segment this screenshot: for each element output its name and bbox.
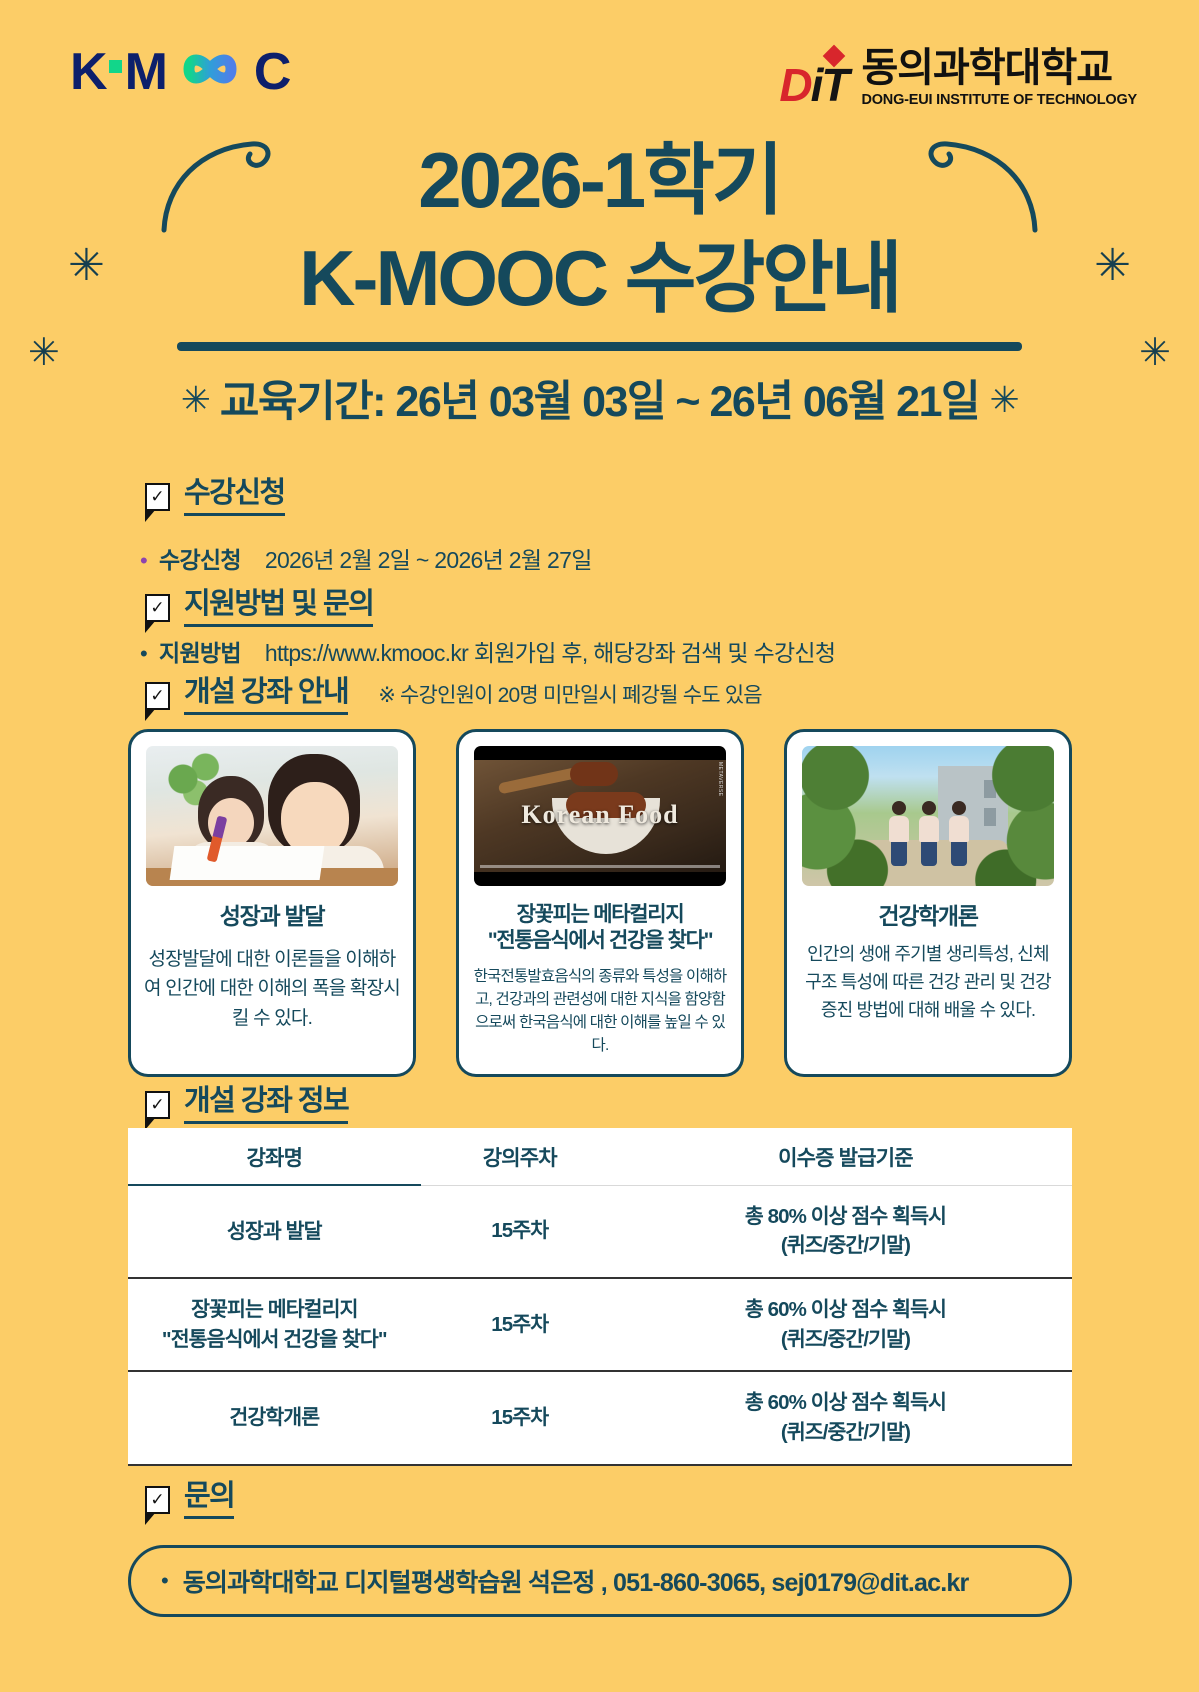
korean-food-caption: Korean Food bbox=[474, 800, 726, 830]
check-icon-courses-intro: ✓ bbox=[145, 682, 170, 710]
table-header-weeks: 강의주차 bbox=[421, 1128, 619, 1185]
table-cell-name-line2: "전통음식에서 건강을 찾다" bbox=[134, 1325, 415, 1355]
section-title-contact: 문의 bbox=[184, 1480, 234, 1519]
table-cell-name: 건강학개론 bbox=[128, 1371, 421, 1464]
table-cell-weeks: 15주차 bbox=[421, 1371, 619, 1464]
table-cell-criteria: 총 60% 이상 점수 획득시 (퀴즈/중간/기말) bbox=[619, 1371, 1072, 1464]
table-header-criteria: 이수증 발급기준 bbox=[619, 1128, 1072, 1185]
check-icon-apply: ✓ bbox=[145, 594, 170, 622]
dit-logo: DiT 동의과학대학교 DONG-EUI INSTITUTE OF TECHNO… bbox=[779, 48, 1137, 108]
course-card-1-desc: 성장발달에 대한 이론들을 이해하여 인간에 대한 이해의 폭을 확장시킬 수 … bbox=[143, 945, 401, 1033]
bullet-icon-contact: • bbox=[161, 1568, 169, 1594]
kmooc-logo-m: M bbox=[125, 46, 166, 98]
section-heading-courses-intro: ✓ 개설 강좌 안내 ※ 수강인원이 20명 미만일시 폐강될 수도 있음 bbox=[145, 676, 762, 715]
contact-box: • 동의과학대학교 디지털평생학습원 석은정 , 051-860-3065, s… bbox=[128, 1545, 1072, 1617]
kmooc-logo-c: C bbox=[254, 46, 290, 98]
poster-title-block: 2026-1학기 K-MOOC 수강안내 ✳ 교육기간: 26년 03월 03일… bbox=[0, 140, 1199, 429]
title-line-1: 2026-1학기 bbox=[0, 140, 1199, 222]
kmooc-logo-dot bbox=[109, 60, 122, 73]
course-card-1-title: 성장과 발달 bbox=[220, 902, 324, 931]
dit-logo-it: iT bbox=[811, 59, 848, 111]
dit-korean-name: 동의과학대학교 bbox=[861, 48, 1137, 88]
period-star-right: ✳ bbox=[990, 379, 1019, 420]
enroll-value: 2026년 2월 2일 ~ 2026년 2월 27일 bbox=[265, 541, 592, 575]
period-star-left: ✳ bbox=[181, 379, 210, 420]
check-icon-courses-table: ✓ bbox=[145, 1091, 170, 1119]
courses-intro-note: ※ 수강인원이 20명 미만일시 폐강될 수도 있음 bbox=[378, 679, 762, 712]
table-cell-criteria-line1: 총 60% 이상 점수 획득시 bbox=[625, 1388, 1066, 1418]
enroll-label: 수강신청 bbox=[159, 541, 241, 575]
section-heading-enroll: ✓ 수강신청 bbox=[145, 477, 285, 516]
table-header-row: 강좌명 강의주차 이수증 발급기준 bbox=[128, 1128, 1072, 1185]
course-card-2[interactable]: Korean Food METAVERSE 장꽃피는 메타컬리지 "전통음식에서… bbox=[456, 729, 744, 1077]
check-icon-contact: ✓ bbox=[145, 1486, 170, 1514]
course-card-1[interactable]: 성장과 발달 성장발달에 대한 이론들을 이해하여 인간에 대한 이해의 폭을 … bbox=[128, 729, 416, 1077]
table-row: 장꽃피는 메타컬리지 "전통음식에서 건강을 찾다" 15주차 총 60% 이상… bbox=[128, 1278, 1072, 1371]
course-card-3[interactable]: 건강학개론 인간의 생애 주기별 생리특성, 신체 구조 특성에 따른 건강 관… bbox=[784, 729, 1072, 1077]
section-heading-courses-table: ✓ 개설 강좌 정보 bbox=[145, 1085, 348, 1124]
table-cell-weeks: 15주차 bbox=[421, 1278, 619, 1371]
table-cell-name-line1: 성장과 발달 bbox=[134, 1217, 415, 1247]
kmooc-logo: K M C bbox=[70, 45, 289, 98]
title-divider bbox=[177, 342, 1022, 351]
apply-bullet-row: • 지원방법 https://www.kmooc.kr 회원가입 후, 해당강좌… bbox=[140, 634, 835, 668]
dit-logo-mark: DiT bbox=[779, 62, 847, 108]
table-row: 건강학개론 15주차 총 60% 이상 점수 획득시 (퀴즈/중간/기말) bbox=[128, 1371, 1072, 1464]
table-cell-criteria-line2: (퀴즈/중간/기말) bbox=[625, 1418, 1066, 1448]
course-info-table: 강좌명 강의주차 이수증 발급기준 성장과 발달 15주차 총 80% 이상 점… bbox=[128, 1128, 1072, 1466]
enroll-bullet-row: • 수강신청 2026년 2월 2일 ~ 2026년 2월 27일 bbox=[140, 541, 592, 575]
course-card-2-title: 장꽃피는 메타컬리지 "전통음식에서 건강을 찾다" bbox=[488, 902, 713, 955]
table-cell-name-line1: 장꽃피는 메타컬리지 bbox=[134, 1295, 415, 1325]
course-card-3-desc: 인간의 생애 주기별 생리특성, 신체 구조 특성에 따른 건강 관리 및 건강… bbox=[799, 941, 1057, 1025]
table-cell-name-line1: 건강학개론 bbox=[134, 1403, 415, 1433]
apply-label: 지원방법 bbox=[159, 634, 241, 668]
apply-value[interactable]: https://www.kmooc.kr 회원가입 후, 해당강좌 검색 및 수… bbox=[265, 634, 835, 668]
poster-root: K M C DiT 동의과학대학교 DONG-EU bbox=[0, 0, 1199, 1692]
kmooc-logo-k: K bbox=[70, 46, 106, 98]
table-cell-criteria: 총 80% 이상 점수 획득시 (퀴즈/중간/기말) bbox=[619, 1185, 1072, 1278]
section-title-courses-intro: 개설 강좌 안내 bbox=[184, 676, 348, 715]
section-heading-apply: ✓ 지원방법 및 문의 bbox=[145, 588, 373, 627]
section-title-enroll: 수강신청 bbox=[184, 477, 285, 516]
table-cell-criteria-line2: (퀴즈/중간/기말) bbox=[625, 1325, 1066, 1355]
contact-text[interactable]: 동의과학대학교 디지털평생학습원 석은정 , 051-860-3065, sej… bbox=[183, 1563, 969, 1599]
education-period: ✳ 교육기간: 26년 03월 03일 ~ 26년 06월 21일 ✳ bbox=[0, 367, 1199, 429]
korean-food-video-thumbnail: Korean Food METAVERSE bbox=[474, 746, 726, 886]
bullet-icon-apply: • bbox=[140, 643, 147, 665]
table-cell-name: 성장과 발달 bbox=[128, 1185, 421, 1278]
course-card-list: 성장과 발달 성장발달에 대한 이론들을 이해하여 인간에 대한 이해의 폭을 … bbox=[128, 729, 1072, 1077]
bullet-icon-enroll: • bbox=[140, 550, 147, 572]
table-header-name: 강좌명 bbox=[128, 1128, 421, 1185]
dit-logo-d: D bbox=[779, 59, 810, 111]
course-card-3-title: 건강학개론 bbox=[878, 902, 977, 931]
table-cell-criteria: 총 60% 이상 점수 획득시 (퀴즈/중간/기말) bbox=[619, 1278, 1072, 1371]
course-card-2-title-line1: 장꽃피는 메타컬리지 bbox=[488, 902, 713, 928]
table-cell-criteria-line1: 총 80% 이상 점수 획득시 bbox=[625, 1202, 1066, 1232]
table-cell-criteria-line2: (퀴즈/중간/기말) bbox=[625, 1231, 1066, 1261]
dit-logo-names: 동의과학대학교 DONG-EUI INSTITUTE OF TECHNOLOGY bbox=[861, 48, 1137, 108]
kmooc-infinity-icon bbox=[167, 45, 253, 98]
table-cell-weeks: 15주차 bbox=[421, 1185, 619, 1278]
table-row: 성장과 발달 15주차 총 80% 이상 점수 획득시 (퀴즈/중간/기말) bbox=[128, 1185, 1072, 1278]
dit-english-name: DONG-EUI INSTITUTE OF TECHNOLOGY bbox=[861, 92, 1137, 108]
section-title-apply: 지원방법 및 문의 bbox=[184, 588, 373, 627]
section-heading-contact: ✓ 문의 bbox=[145, 1480, 234, 1519]
table-cell-criteria-line1: 총 60% 이상 점수 획득시 bbox=[625, 1295, 1066, 1325]
table-cell-name: 장꽃피는 메타컬리지 "전통음식에서 건강을 찾다" bbox=[128, 1278, 421, 1371]
title-line-2: K-MOOC 수강안내 bbox=[0, 238, 1199, 320]
walking-women-photo bbox=[802, 746, 1054, 886]
section-title-courses-table: 개설 강좌 정보 bbox=[184, 1085, 348, 1124]
children-drawing-photo bbox=[146, 746, 398, 886]
course-card-2-desc: 한국전통발효음식의 종류와 특성을 이해하고, 건강과의 관련성에 대한 지식을… bbox=[471, 965, 729, 1058]
course-card-2-title-line2: "전통음식에서 건강을 찾다" bbox=[488, 928, 713, 954]
check-icon-enroll: ✓ bbox=[145, 483, 170, 511]
period-text: 교육기간: 26년 03월 03일 ~ 26년 06월 21일 bbox=[220, 378, 979, 426]
